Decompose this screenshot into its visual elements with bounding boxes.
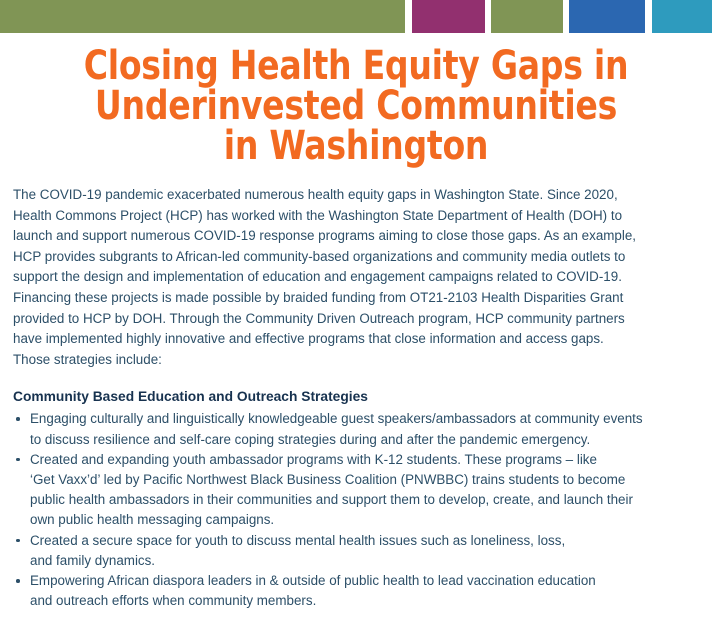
list-item-line: to discuss resilience and self-care copi…	[30, 430, 699, 450]
list-item-line: and outreach efforts when community memb…	[30, 591, 699, 611]
list-item: Created a secure space for youth to disc…	[13, 531, 699, 571]
strategies-bullet-list: Engaging culturally and linguistically k…	[13, 409, 699, 611]
list-item-line: Empowering African diaspora leaders in &…	[30, 571, 699, 591]
page-title-line: in Washington	[40, 126, 671, 166]
intro-line: provided to HCP by DOH. Through the Comm…	[13, 309, 699, 330]
intro-line: have implemented highly innovative and e…	[13, 329, 699, 350]
section-heading: Community Based Education and Outreach S…	[13, 387, 699, 406]
list-item: Engaging culturally and linguistically k…	[13, 409, 699, 449]
bullet-dot-icon	[16, 417, 20, 421]
bullet-dot-icon	[16, 579, 20, 583]
list-item: Empowering African diaspora leaders in &…	[13, 571, 699, 611]
list-item-line: Created a secure space for youth to disc…	[30, 531, 699, 551]
intro-paragraph: The COVID-19 pandemic exacerbated numero…	[13, 185, 699, 370]
list-item-line: and family dynamics.	[30, 551, 699, 571]
bullet-dot-icon	[16, 458, 20, 462]
intro-line: HCP provides subgrants to African-led co…	[13, 247, 699, 268]
segment-green-small	[491, 0, 563, 33]
segment-blue	[569, 0, 645, 33]
list-item-line: public health ambassadors in their commu…	[30, 490, 699, 510]
intro-line: launch and support numerous COVID-19 res…	[13, 226, 699, 247]
page-title-line: Underinvested Communities	[40, 86, 671, 126]
list-item-line: own public health messaging campaigns.	[30, 510, 699, 530]
page-title-line: Closing Health Equity Gaps in	[40, 46, 671, 86]
list-item-line: Engaging culturally and linguistically k…	[30, 409, 699, 429]
document-page: Closing Health Equity Gaps inUnderinvest…	[0, 46, 712, 611]
page-title: Closing Health Equity Gaps inUnderinvest…	[40, 46, 671, 166]
intro-line: The COVID-19 pandemic exacerbated numero…	[13, 185, 699, 206]
intro-line: Those strategies include:	[13, 350, 699, 371]
intro-line: support the design and implementation of…	[13, 267, 699, 288]
intro-line: Health Commons Project (HCP) has worked …	[13, 206, 699, 227]
bullet-dot-icon	[16, 539, 20, 543]
list-item-line: Created and expanding youth ambassador p…	[30, 450, 699, 470]
list-item: Created and expanding youth ambassador p…	[13, 450, 699, 531]
intro-line: Financing these projects is made possibl…	[13, 288, 699, 309]
segment-teal	[652, 0, 712, 33]
list-item-line: ‘Get Vaxx’d’ led by Pacific Northwest Bl…	[30, 470, 699, 490]
decorative-color-bar	[0, 0, 712, 33]
segment-green-wide	[0, 0, 405, 33]
segment-magenta	[412, 0, 485, 33]
